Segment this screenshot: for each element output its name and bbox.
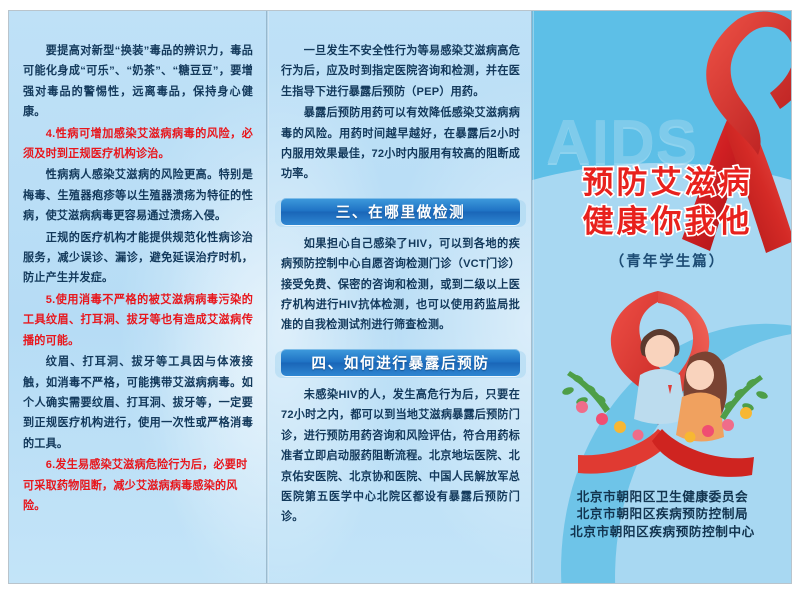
paragraph-emphasis: 6.发生易感染艾滋病危险行为后，必要时可采取药物阻断，减少艾滋病病毒感染的风险。 [23,455,253,516]
panel-cover: AIDS [532,11,792,583]
cover-subtitle: （青年学生篇） [550,250,785,271]
paragraph: 未感染HIV的人，发生高危行为后，只要在72小时之内，都可以到当地艾滋病暴露后预… [281,385,520,528]
panel-middle-text-column: 一旦发生不安全性行为等易感染艾滋病高危行为后，应及时到指定医院咨询和检测，并在医… [281,41,520,529]
couple-with-ribbon-and-flowers-illustration [540,279,790,479]
paragraph-emphasis: 5.使用消毒不严格的被艾滋病病毒污染的工具纹眉、打耳洞、拔牙等也有造成艾滋病传播… [23,290,253,351]
paragraph: 正规的医疗机构才能提供规范化性病诊治服务，减少误诊、漏诊，避免延误治疗时机，防止… [23,228,253,289]
paragraph: 性病病人感染艾滋病的风险更高。特别是梅毒、生殖器疱疹等以生殖器溃疡为特征的性病，… [23,165,253,226]
section-heading-four-label: 四、如何进行暴露后预防 [311,352,489,373]
section-heading-three-label: 三、在哪里做检测 [336,201,466,222]
paragraph: 如果担心自己感染了HIV，可以到各地的疾病预防控制中心自愿咨询检测门诊（VCT门… [281,234,520,336]
cover-title-line-2: 健康你我他 [550,202,785,241]
paragraph: 暴露后预防用药可以有效降低感染艾滋病病毒的风险。用药时间越早越好，在暴露后2小时… [281,103,520,185]
paragraph: 纹眉、打耳洞、拔牙等工具因与体液接触，如消毒不严格，可能携带艾滋病病毒。如个人确… [23,352,253,454]
section-heading-four: 四、如何进行暴露后预防 [281,349,520,376]
panel-left: 要提高对新型“换装”毒品的辨识力，毒品可能化身成“可乐”、“奶茶”、“糖豆豆”，… [9,11,267,583]
organization-line: 北京市朝阳区疾病预防控制中心 [532,524,792,542]
fold-line-right [531,11,534,583]
cover-organizations-block: 北京市朝阳区卫生健康委员会 北京市朝阳区疾病预防控制局 北京市朝阳区疾病预防控制… [532,489,792,542]
cover-title-block: 预防艾滋病 健康你我他 （青年学生篇） [550,163,785,271]
brochure-page: 要提高对新型“换装”毒品的辨识力，毒品可能化身成“可乐”、“奶茶”、“糖豆豆”，… [0,0,800,594]
organization-line: 北京市朝阳区疾病预防控制局 [532,506,792,524]
paragraph: 一旦发生不安全性行为等易感染艾滋病高危行为后，应及时到指定医院咨询和检测，并在医… [281,41,520,102]
fold-line-left [266,11,269,583]
paragraph: 要提高对新型“换装”毒品的辨识力，毒品可能化身成“可乐”、“奶茶”、“糖豆豆”，… [23,41,253,123]
panel-middle: 一旦发生不安全性行为等易感染艾滋病高危行为后，应及时到指定医院咨询和检测，并在医… [267,11,532,583]
organization-line: 北京市朝阳区卫生健康委员会 [532,489,792,507]
section-heading-three: 三、在哪里做检测 [281,198,520,225]
brochure-sheet: 要提高对新型“换装”毒品的辨识力，毒品可能化身成“可乐”、“奶茶”、“糖豆豆”，… [8,10,792,584]
cover-title-line-1: 预防艾滋病 [550,163,785,202]
panel-left-text-column: 要提高对新型“换装”毒品的辨识力，毒品可能化身成“可乐”、“奶茶”、“糖豆豆”，… [23,41,253,517]
paragraph-emphasis: 4.性病可增加感染艾滋病病毒的风险，必须及时到正规医疗机构诊治。 [23,124,253,165]
